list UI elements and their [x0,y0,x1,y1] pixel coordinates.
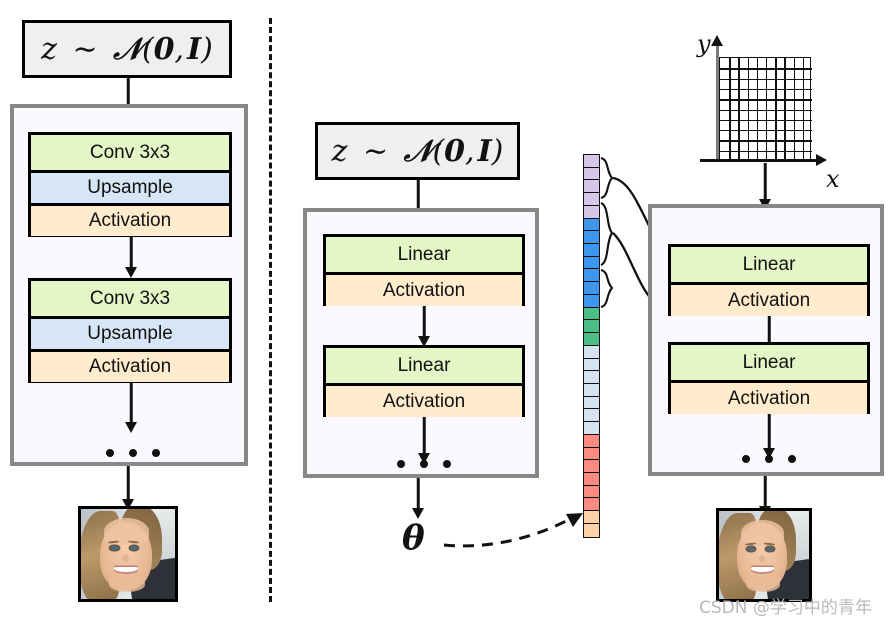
conv-block-1: Conv 3x3 Upsample Activation [28,132,232,237]
vector-cell [584,282,599,295]
implicit-ellipsis [742,454,796,464]
vector-cell [584,193,599,206]
conv-block-2: Conv 3x3 Upsample Activation [28,278,232,383]
grid-line-horizontal [720,151,812,152]
arrow-conv-block-2-to-ellipsis [118,383,144,435]
grid-line-horizontal [720,79,812,80]
arrow-mlp-block-2-to-ellipsis [411,417,437,465]
vector-cell [584,460,599,473]
theta-to-vector-dashed-arrow [440,500,600,570]
vector-cell [584,435,599,448]
mlp-block-2: Linear Activation [323,345,525,417]
implicit-block-2: Linear Activation [668,342,870,414]
vector-cell [584,422,599,435]
vector-cell [584,498,599,511]
vector-cell [584,486,599,499]
layer-upsample: Upsample [31,316,229,349]
vector-cell [584,524,599,537]
layer-activation: Activation [326,383,522,417]
vector-cell [584,244,599,257]
layer-linear: Linear [326,348,522,383]
latent-box-middle: z ∼ 𝒩(0, I) [315,122,520,180]
watermark-text: CSDN @学习中的青年 [699,593,872,618]
conv-ellipsis [106,448,160,458]
layer-linear: Linear [671,345,867,380]
coordinate-grid [719,57,811,160]
layer-activation: Activation [31,349,229,382]
vector-cell [584,384,599,397]
implicit-block-1: Linear Activation [668,244,870,316]
mlp-hypernetwork-module: Linear Activation Linear Activation [303,208,539,478]
vector-cell [584,346,599,359]
figure-canvas: z ∼ 𝒩(0, I) Conv 3x3 Upsample Activation… [0,0,896,621]
layer-linear: Linear [326,237,522,272]
vector-cell [584,397,599,410]
layer-activation: Activation [671,282,867,316]
vector-cell [584,320,599,333]
vector-cell [584,206,599,219]
layer-activation: Activation [326,272,522,306]
latent-label-middle: z ∼ 𝒩(0, I) [332,134,504,169]
theta-label: θ [402,518,425,558]
output-face-image-right [716,508,812,602]
vector-cell [584,333,599,346]
panel-divider [269,18,272,602]
vector-cell [584,409,599,422]
vector-cell [584,308,599,321]
vector-cell [584,269,599,282]
vector-cell [584,180,599,193]
conv-generator-module: Conv 3x3 Upsample Activation Conv 3x3 Up… [10,104,248,466]
mlp-block-1: Linear Activation [323,234,525,306]
output-face-image-left [78,506,178,602]
layer-linear: Linear [671,247,867,282]
grid-line-horizontal [720,89,812,90]
grid-line-horizontal [720,130,812,131]
vector-cell [584,473,599,486]
vector-cell [584,371,599,384]
vector-cell [584,295,599,308]
layer-activation: Activation [671,380,867,414]
vector-cell [584,155,599,168]
grid-line-horizontal [720,110,812,111]
grid-line-horizontal [720,99,812,100]
vector-cell [584,448,599,461]
layer-conv-3x3: Conv 3x3 [31,281,229,316]
y-axis-label: y [697,30,711,58]
arrow-mlp-block-1-to-2 [411,306,437,348]
latent-box-left: z ∼ 𝒩(0, I) [22,20,232,78]
vector-cell [584,231,599,244]
latent-label-left: z ∼ 𝒩(0, I) [41,32,213,67]
vector-cell [584,511,599,524]
vector-cell [584,219,599,232]
grid-line-horizontal [720,68,812,69]
layer-activation: Activation [31,203,229,236]
vector-cell [584,168,599,181]
vector-cell [584,257,599,270]
mlp-ellipsis [397,459,451,469]
arrow-conv-module-to-image [115,466,141,511]
layer-conv-3x3: Conv 3x3 [31,135,229,170]
implicit-network-module: Linear Activation Linear Activation [648,204,884,476]
grid-line-horizontal [720,140,812,141]
layer-upsample: Upsample [31,170,229,203]
y-axis-arrowhead [711,35,723,46]
x-axis-label: x [826,165,840,193]
arrow-conv-block-1-to-2 [118,237,144,279]
grid-line-horizontal [720,120,812,121]
vector-cell [584,359,599,372]
arrow-mlp-module-to-theta [405,478,431,520]
